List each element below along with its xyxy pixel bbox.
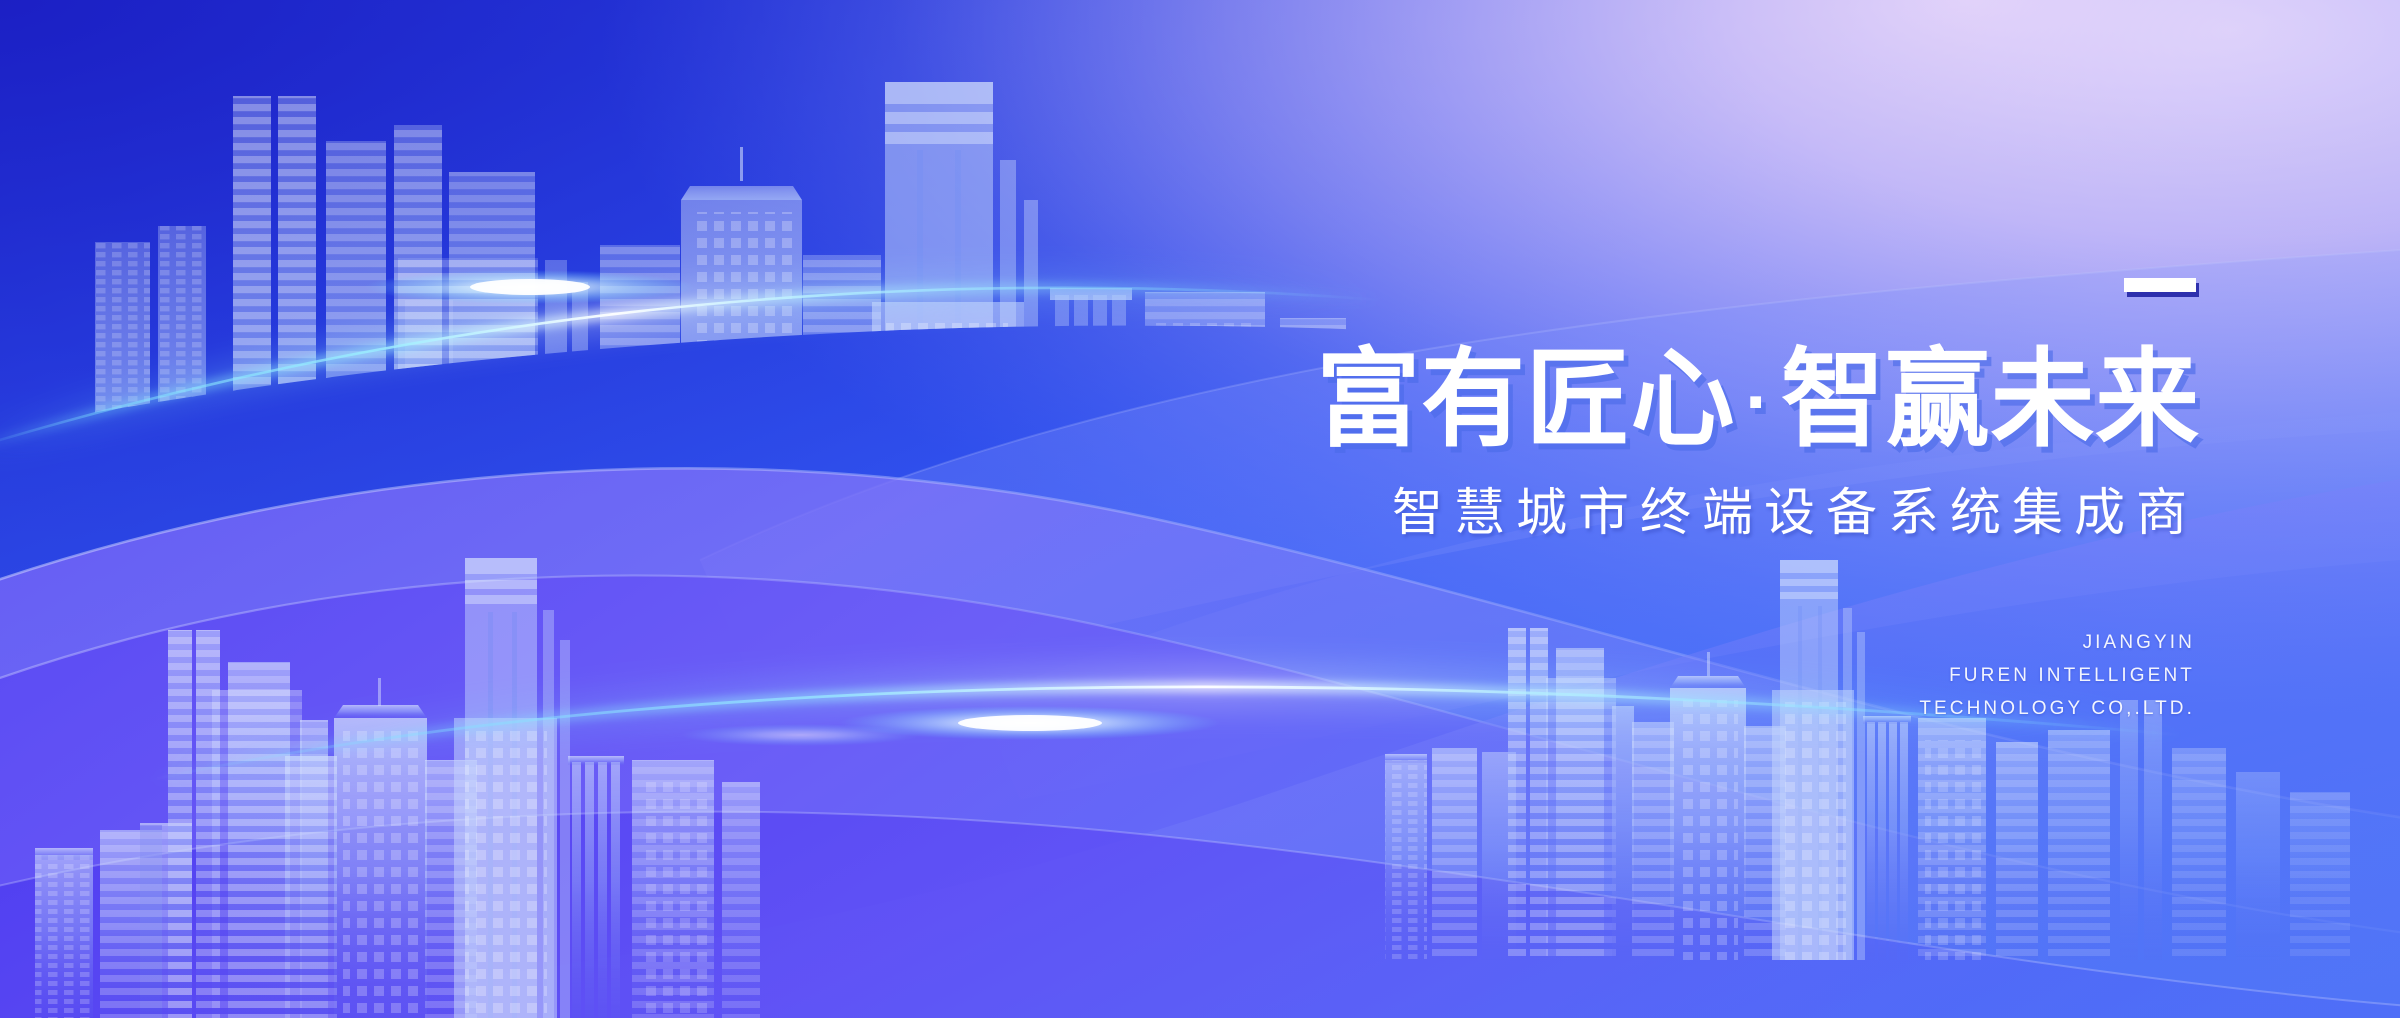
promotional-banner: 富有匠心·智赢未来 智慧城市终端设备系统集成商 JIANGYIN FUREN I… <box>0 0 2400 1018</box>
glow-arc-lower <box>0 0 2400 1018</box>
